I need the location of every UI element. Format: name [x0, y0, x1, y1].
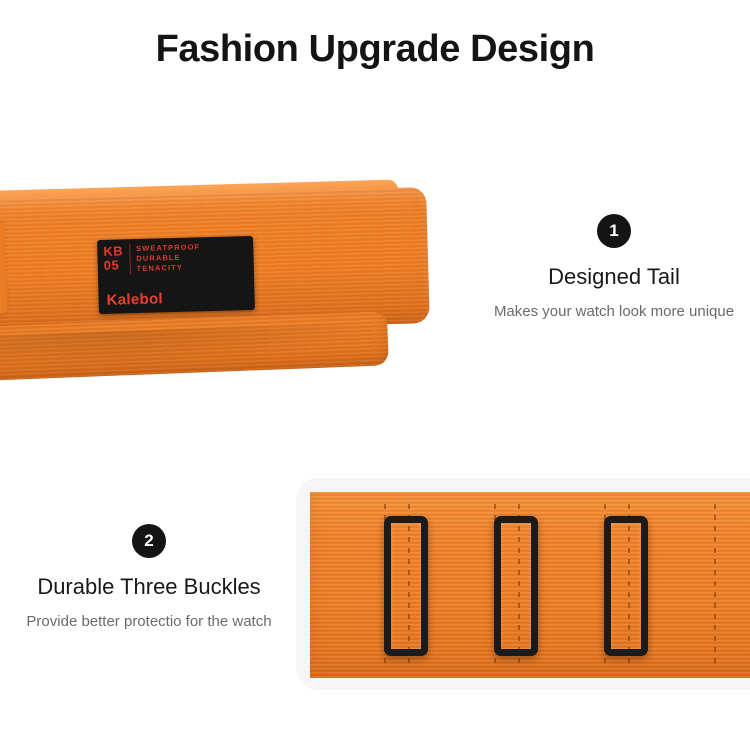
- brand-code: KB 05: [103, 244, 123, 272]
- feature-1-title: Designed Tail: [488, 264, 740, 290]
- brand-label-top: KB 05 SWEATPROOF DURABLE TENACITY: [103, 241, 248, 275]
- buckle: [494, 516, 538, 656]
- feature-2-description: Provide better protectio for the watch: [18, 611, 280, 633]
- feature-2-title: Durable Three Buckles: [18, 574, 280, 600]
- brand-claims: SWEATPROOF DURABLE TENACITY: [136, 242, 201, 274]
- feature-2-callout: 2 Durable Three Buckles Provide better p…: [18, 524, 280, 633]
- brand-label: KB 05 SWEATPROOF DURABLE TENACITY Kalebo…: [97, 236, 255, 314]
- feature-1-callout: 1 Designed Tail Makes your watch look mo…: [488, 214, 740, 323]
- feature-1-number-badge: 1: [597, 214, 631, 248]
- stitch-line: [714, 504, 716, 664]
- buckle: [384, 516, 428, 656]
- brand-label-divider: [129, 244, 131, 274]
- feature-1-image: KB 05 SWEATPROOF DURABLE TENACITY Kalebo…: [0, 170, 440, 395]
- buckle: [604, 516, 648, 656]
- page-title: Fashion Upgrade Design: [0, 28, 750, 71]
- brand-code-line-2: 05: [104, 258, 124, 272]
- feature-1-description: Makes your watch look more unique: [488, 301, 740, 323]
- feature-2-number-badge: 2: [132, 524, 166, 558]
- brand-code-line-1: KB: [103, 244, 123, 258]
- feature-2-image: [296, 478, 750, 690]
- brand-name: Kalebol: [104, 288, 248, 309]
